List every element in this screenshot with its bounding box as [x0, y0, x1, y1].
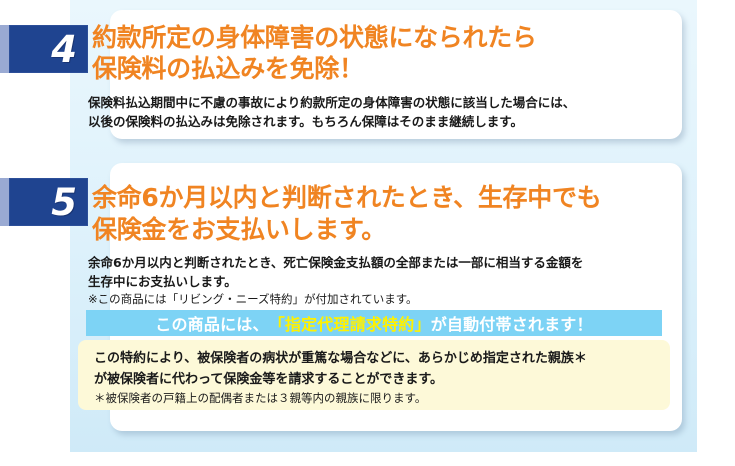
badge-left-strip [0, 178, 9, 226]
banner-prefix-text: この商品には、 [155, 311, 268, 335]
auto-rider-banner: この商品には、「指定代理請求特約」が自動付帯されます！ [86, 310, 662, 336]
section-body-5-line2: 生存中にお支払いします。 [88, 272, 668, 291]
section-number-4: 4 [51, 31, 88, 68]
section-body-4: 保険料払込期間中に不慮の事故により約款所定の身体障害の状態に該当した場合には、 … [88, 93, 668, 131]
banner-highlight-text: 「指定代理請求特約」 [269, 311, 431, 335]
rider-detail-line1: この特約により、被保険者の病状が重篤な場合などに、あらかじめ指定された親族＊ [94, 348, 664, 369]
section-heading-4-line2: 保険料の払込みを免除！ [92, 53, 672, 84]
rider-detail-footnote: ＊被保険者の戸籍上の配偶者または３親等内の親族に限ります。 [94, 390, 664, 406]
badge-left-strip [0, 25, 9, 73]
section-number-badge-4: 4 [0, 25, 88, 73]
banner-suffix-text: が自動付帯されます！ [431, 311, 593, 335]
section-heading-5-line2: 保険金をお支払いします。 [92, 214, 682, 246]
section-heading-5-line1: 余命6か月以内と判断されたとき、生存中でも [92, 182, 682, 214]
section-body-5-line1: 余命6か月以内と判断されたとき、死亡保険金支払額の全部または一部に相当する金額を [88, 253, 668, 272]
section-body-4-line1: 保険料払込期間中に不慮の事故により約款所定の身体障害の状態に該当した場合には、 [88, 93, 668, 112]
rider-detail-text: この特約により、被保険者の病状が重篤な場合などに、あらかじめ指定された親族＊ が… [94, 348, 664, 390]
section-number-badge-5: 5 [0, 178, 88, 226]
section-number-5: 5 [51, 184, 88, 221]
section-body-4-line2: 以後の保険料の払込みは免除されます。もちろん保障はそのまま継続します。 [88, 112, 668, 131]
section-note-5: ※この商品には「リビング・ニーズ特約」が付加されています。 [88, 291, 668, 307]
rider-detail-line2: が被保険者に代わって保険金等を請求することができます。 [94, 369, 664, 390]
section-heading-5: 余命6か月以内と判断されたとき、生存中でも 保険金をお支払いします。 [92, 182, 682, 246]
section-heading-4-line1: 約款所定の身体障害の状態になられたら [92, 22, 672, 53]
section-body-5: 余命6か月以内と判断されたとき、死亡保険金支払額の全部または一部に相当する金額を… [88, 253, 668, 291]
section-heading-4: 約款所定の身体障害の状態になられたら 保険料の払込みを免除！ [92, 22, 672, 84]
